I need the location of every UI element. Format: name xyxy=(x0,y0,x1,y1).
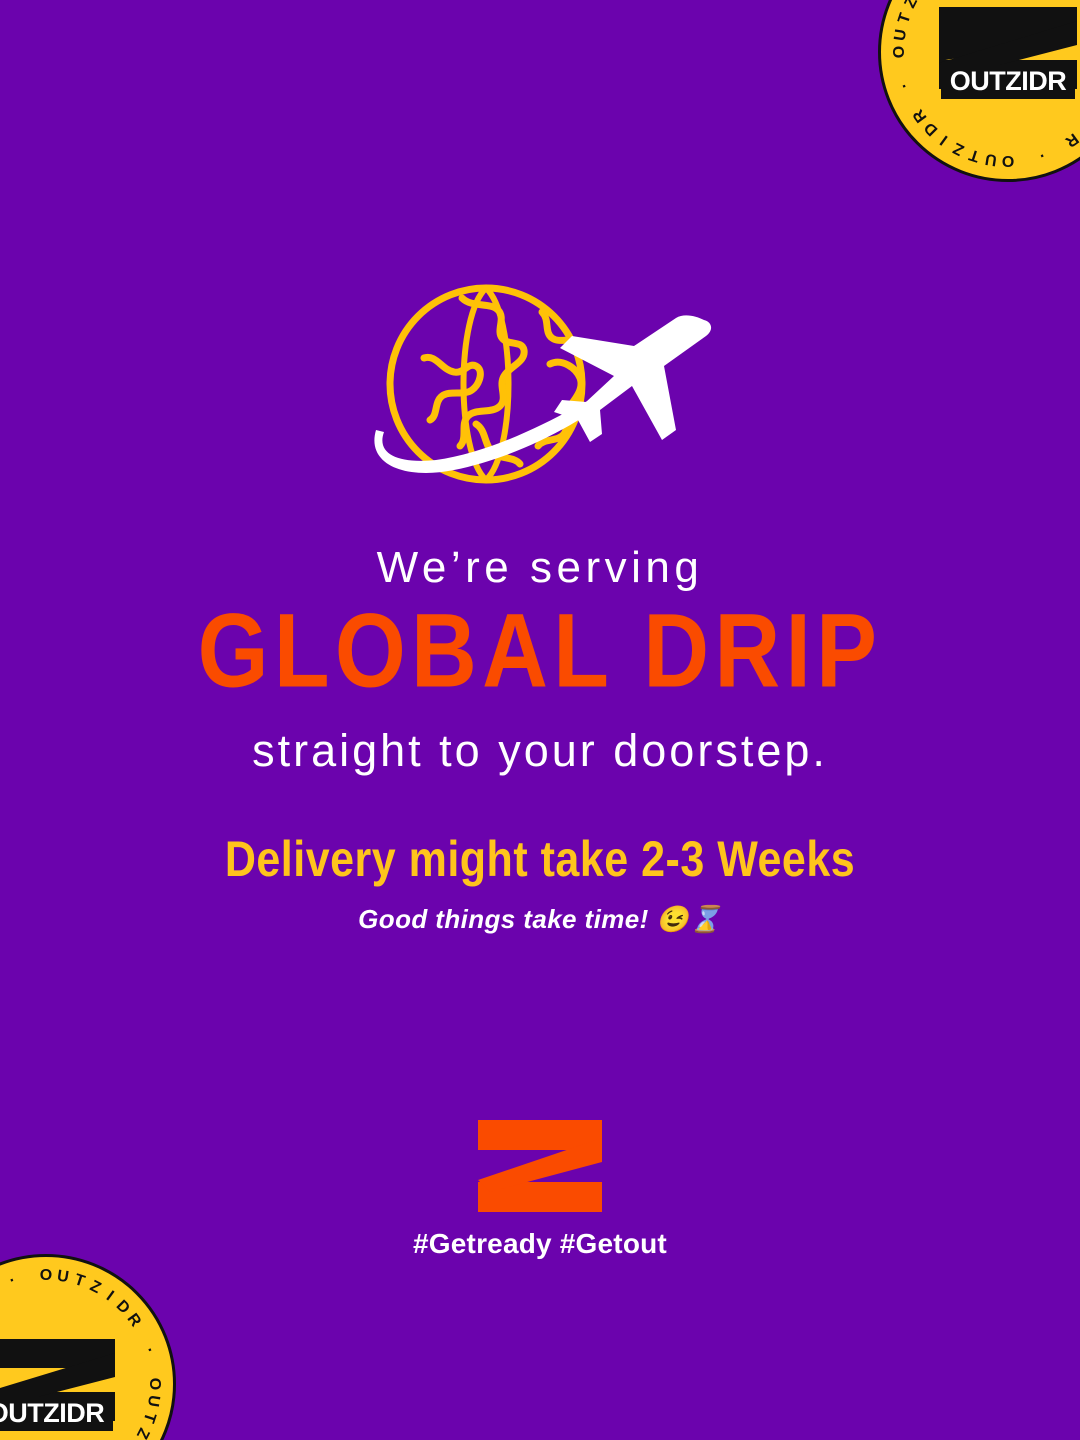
headline-line-3: straight to your doorstep. xyxy=(252,728,828,773)
outzidr-z-logo-icon xyxy=(478,1120,602,1212)
delivery-notice: Delivery might take 2-3 Weeks xyxy=(225,836,855,886)
globe-airplane-svg xyxy=(364,274,716,502)
headline-line-1: We’re serving xyxy=(377,546,704,590)
footer-tagline: #Getready #Getout xyxy=(413,1230,667,1258)
delivery-subnote: Good things take time! 😉⌛ xyxy=(358,906,722,932)
footer-block: #Getready #Getout xyxy=(0,1120,1080,1258)
globe-airplane-illustration xyxy=(364,274,716,502)
headline-line-2: GLOBAL DRIP xyxy=(198,596,883,706)
